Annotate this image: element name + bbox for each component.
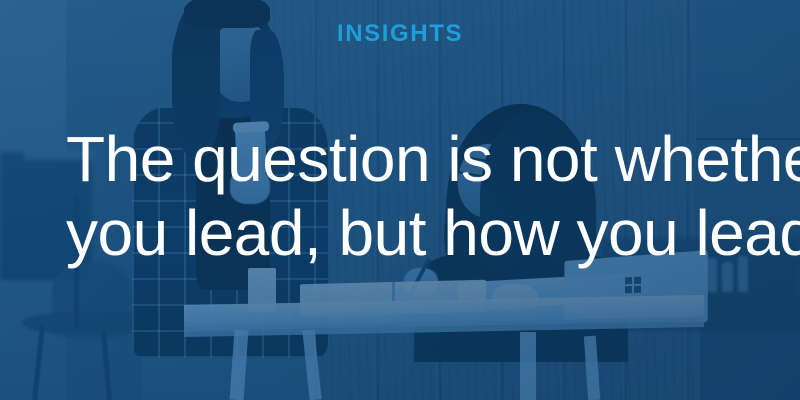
eyebrow-label: INSIGHTS xyxy=(0,22,800,46)
card-content: INSIGHTS The question is not whether you… xyxy=(0,0,800,400)
insights-quote-card: INSIGHTS The question is not whether you… xyxy=(0,0,800,400)
headline-quote: The question is not whether you lead, bu… xyxy=(66,122,756,270)
headline-line-1: The question is not whether xyxy=(66,122,756,196)
headline-line-2: you lead, but how you lead. xyxy=(66,196,756,270)
